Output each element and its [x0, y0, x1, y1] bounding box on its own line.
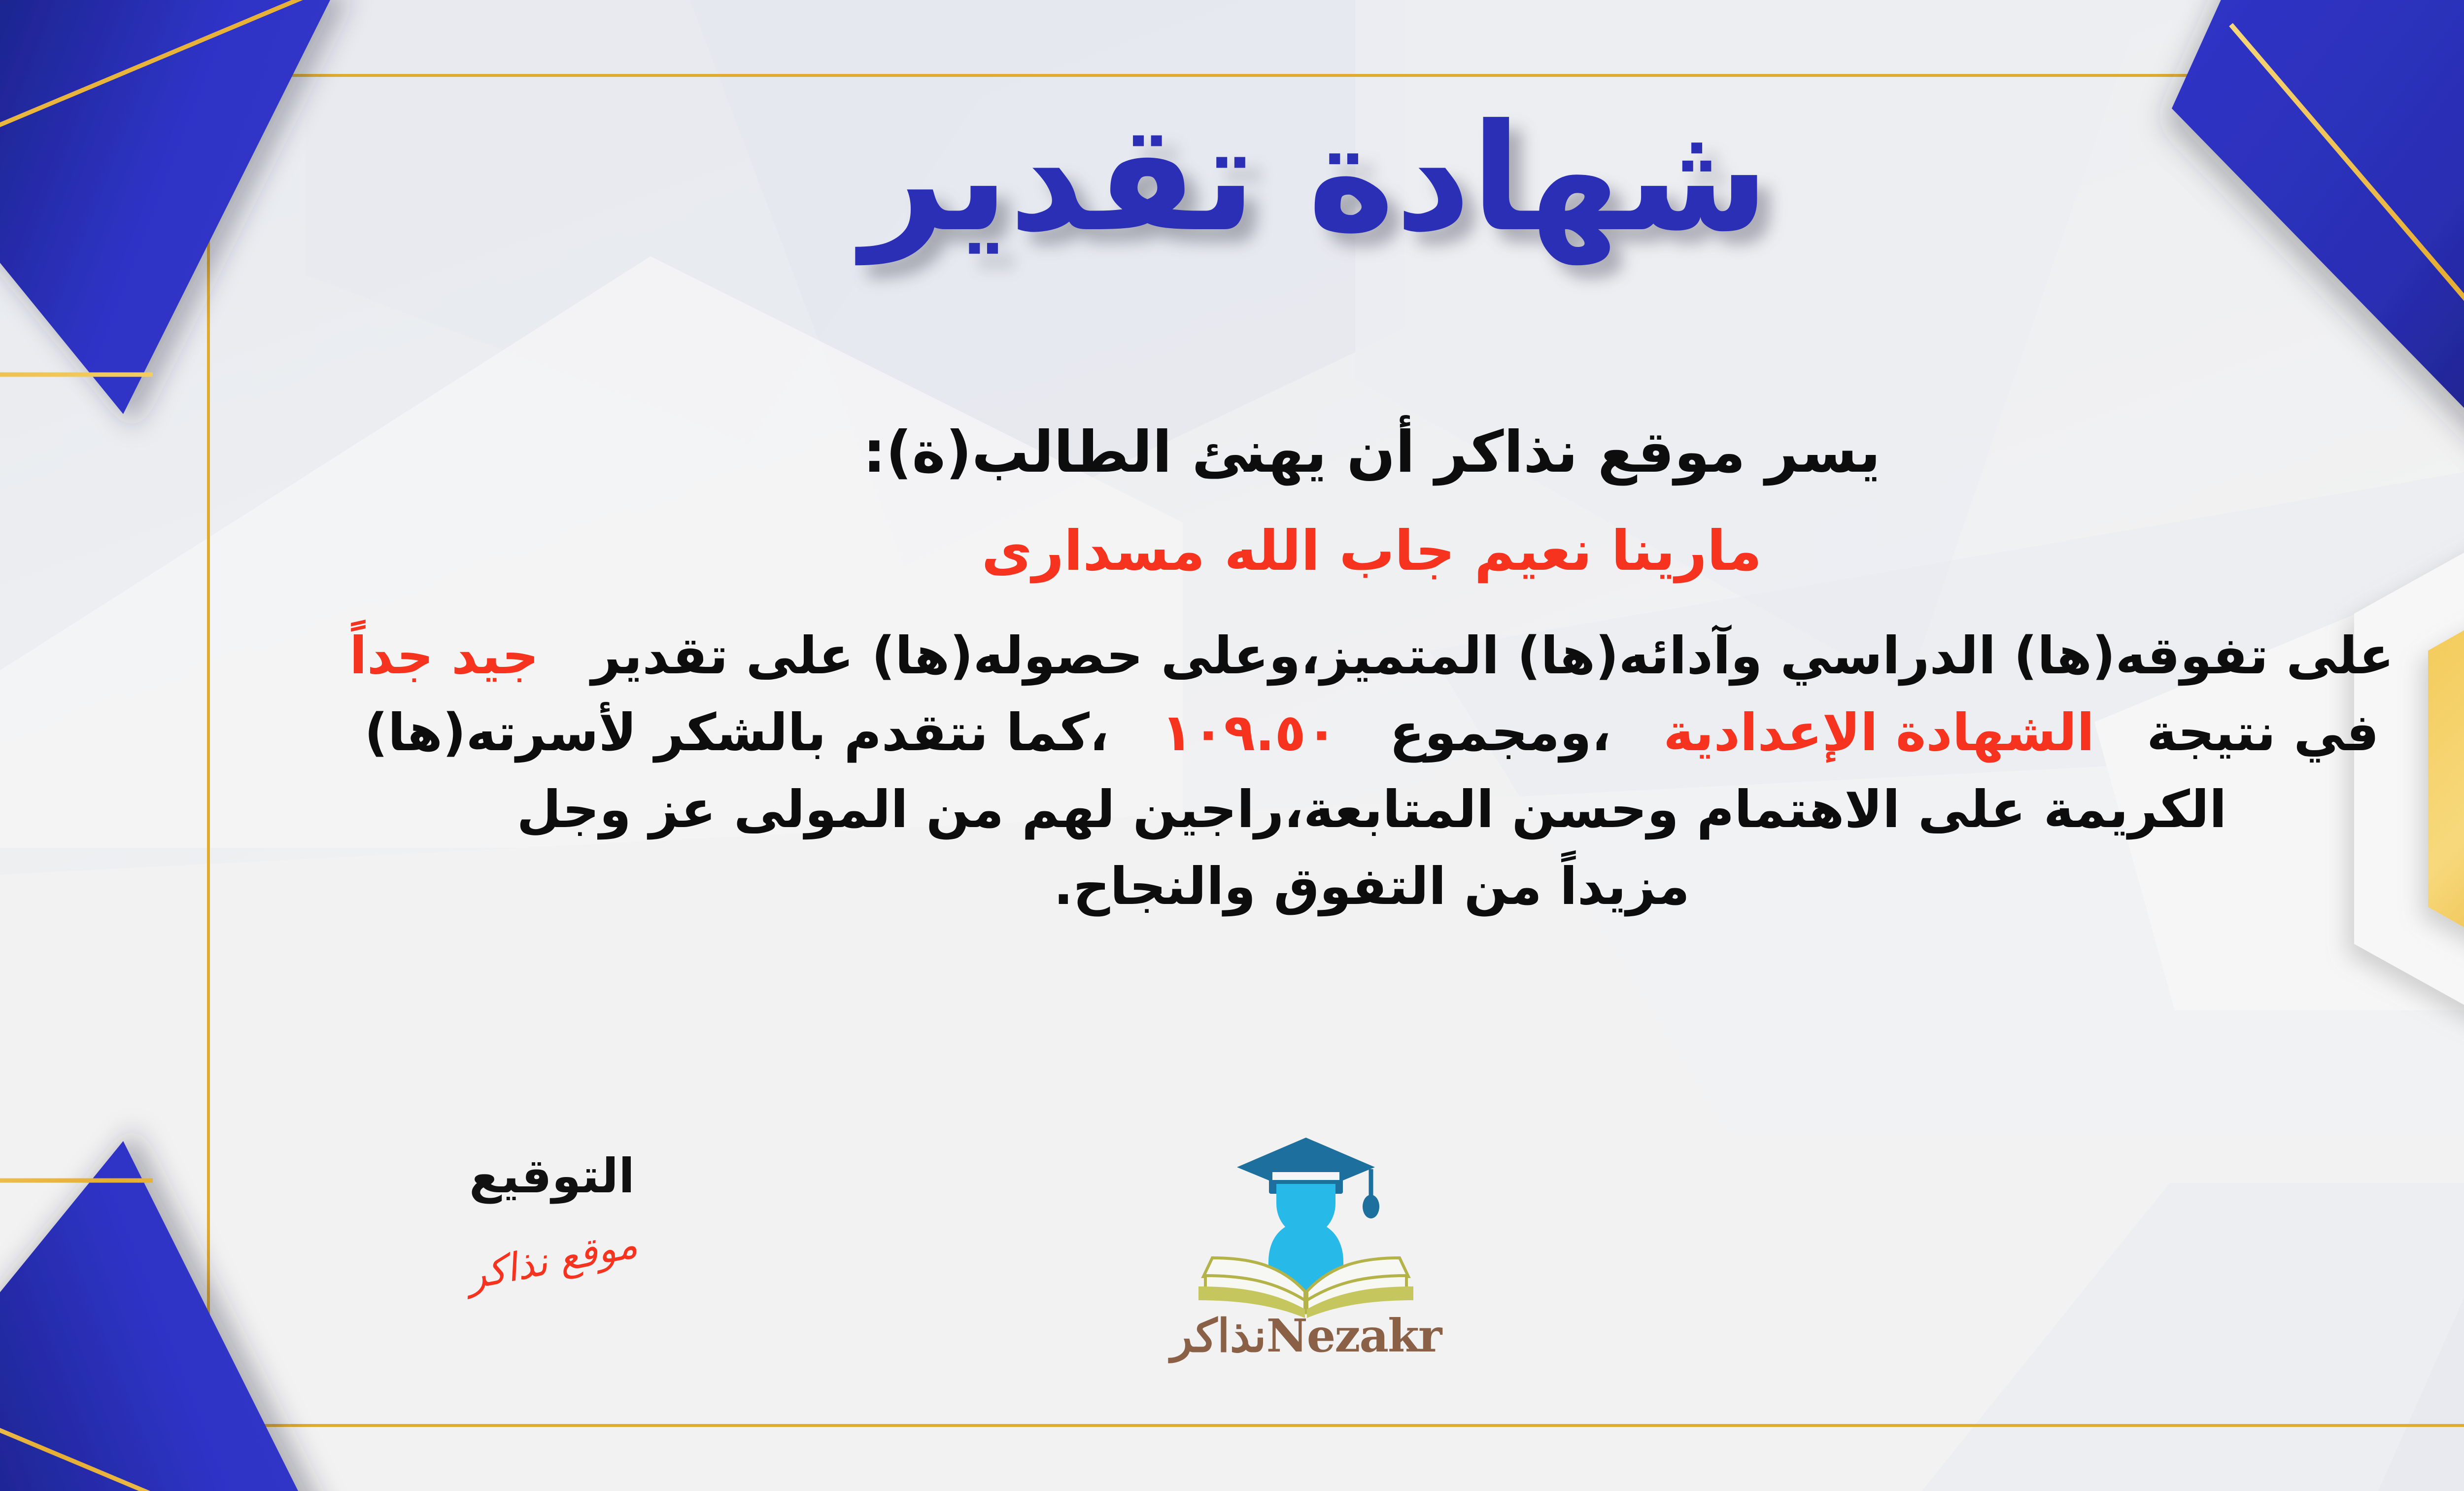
logo-brand-latin: Nezakr	[1266, 1309, 1441, 1362]
signature-label: التوقيع	[379, 1148, 724, 1204]
grade-value: جيد جداً	[349, 625, 539, 686]
logo-brand-arabic: نذاكر	[1171, 1309, 1266, 1362]
certificate-canvas: شهادة تقدير يسر موقع نذاكر أن يهنئ الطال…	[0, 0, 2464, 1491]
body-paragraph: على تفوقه(ها) الدراسي وآدائه(ها) المتميز…	[207, 630, 2464, 912]
line4-prefix: في نتيجة	[2147, 702, 2379, 763]
intro-line: يسر موقع نذاكر أن يهنئ الطالب(ة):	[207, 424, 2464, 481]
exam-name: الشهادة الإعدادية	[1663, 702, 2094, 763]
logo-graphic	[1178, 1129, 1434, 1321]
line4-suffix: ،كما نتقدم بالشكر لأسرته(ها)	[364, 702, 1109, 763]
paragraph-line-3: على تفوقه(ها) الدراسي وآدائه(ها) المتميز…	[207, 630, 2464, 681]
site-logo: Nezakrنذاكر	[1109, 1129, 1503, 1362]
corner-ghost-bottom-right	[2295, 1235, 2464, 1491]
certificate-body: يسر موقع نذاكر أن يهنئ الطالب(ة): مارينا…	[207, 424, 2464, 937]
line3-text: على تفوقه(ها) الدراسي وآدائه(ها) المتميز…	[591, 625, 2394, 686]
signature-block: التوقيع موقع نذاكر	[379, 1148, 724, 1283]
total-score: ١٠٩.٥٠	[1162, 702, 1337, 763]
paragraph-line-6: مزيداً من التفوق والنجاح.	[207, 861, 2464, 912]
certificate-title: شهادة تقدير	[749, 67, 1882, 283]
line4-mid: ،ومجموع	[1390, 702, 1611, 763]
student-name: مارينا نعيم جاب الله مسدارى	[207, 523, 2464, 579]
certificate-title-wrap: شهادة تقدير	[0, 59, 2464, 291]
title-text: شهادة تقدير	[854, 92, 1769, 266]
paragraph-line-5: الكريمة على الاهتمام وحسن المتابعة،راجين…	[207, 784, 2464, 835]
logo-wordmark: Nezakrنذاكر	[1109, 1309, 1503, 1362]
paragraph-line-4: في نتيجة الشهادة الإعدادية ،ومجموع ١٠٩.٥…	[207, 707, 2464, 758]
